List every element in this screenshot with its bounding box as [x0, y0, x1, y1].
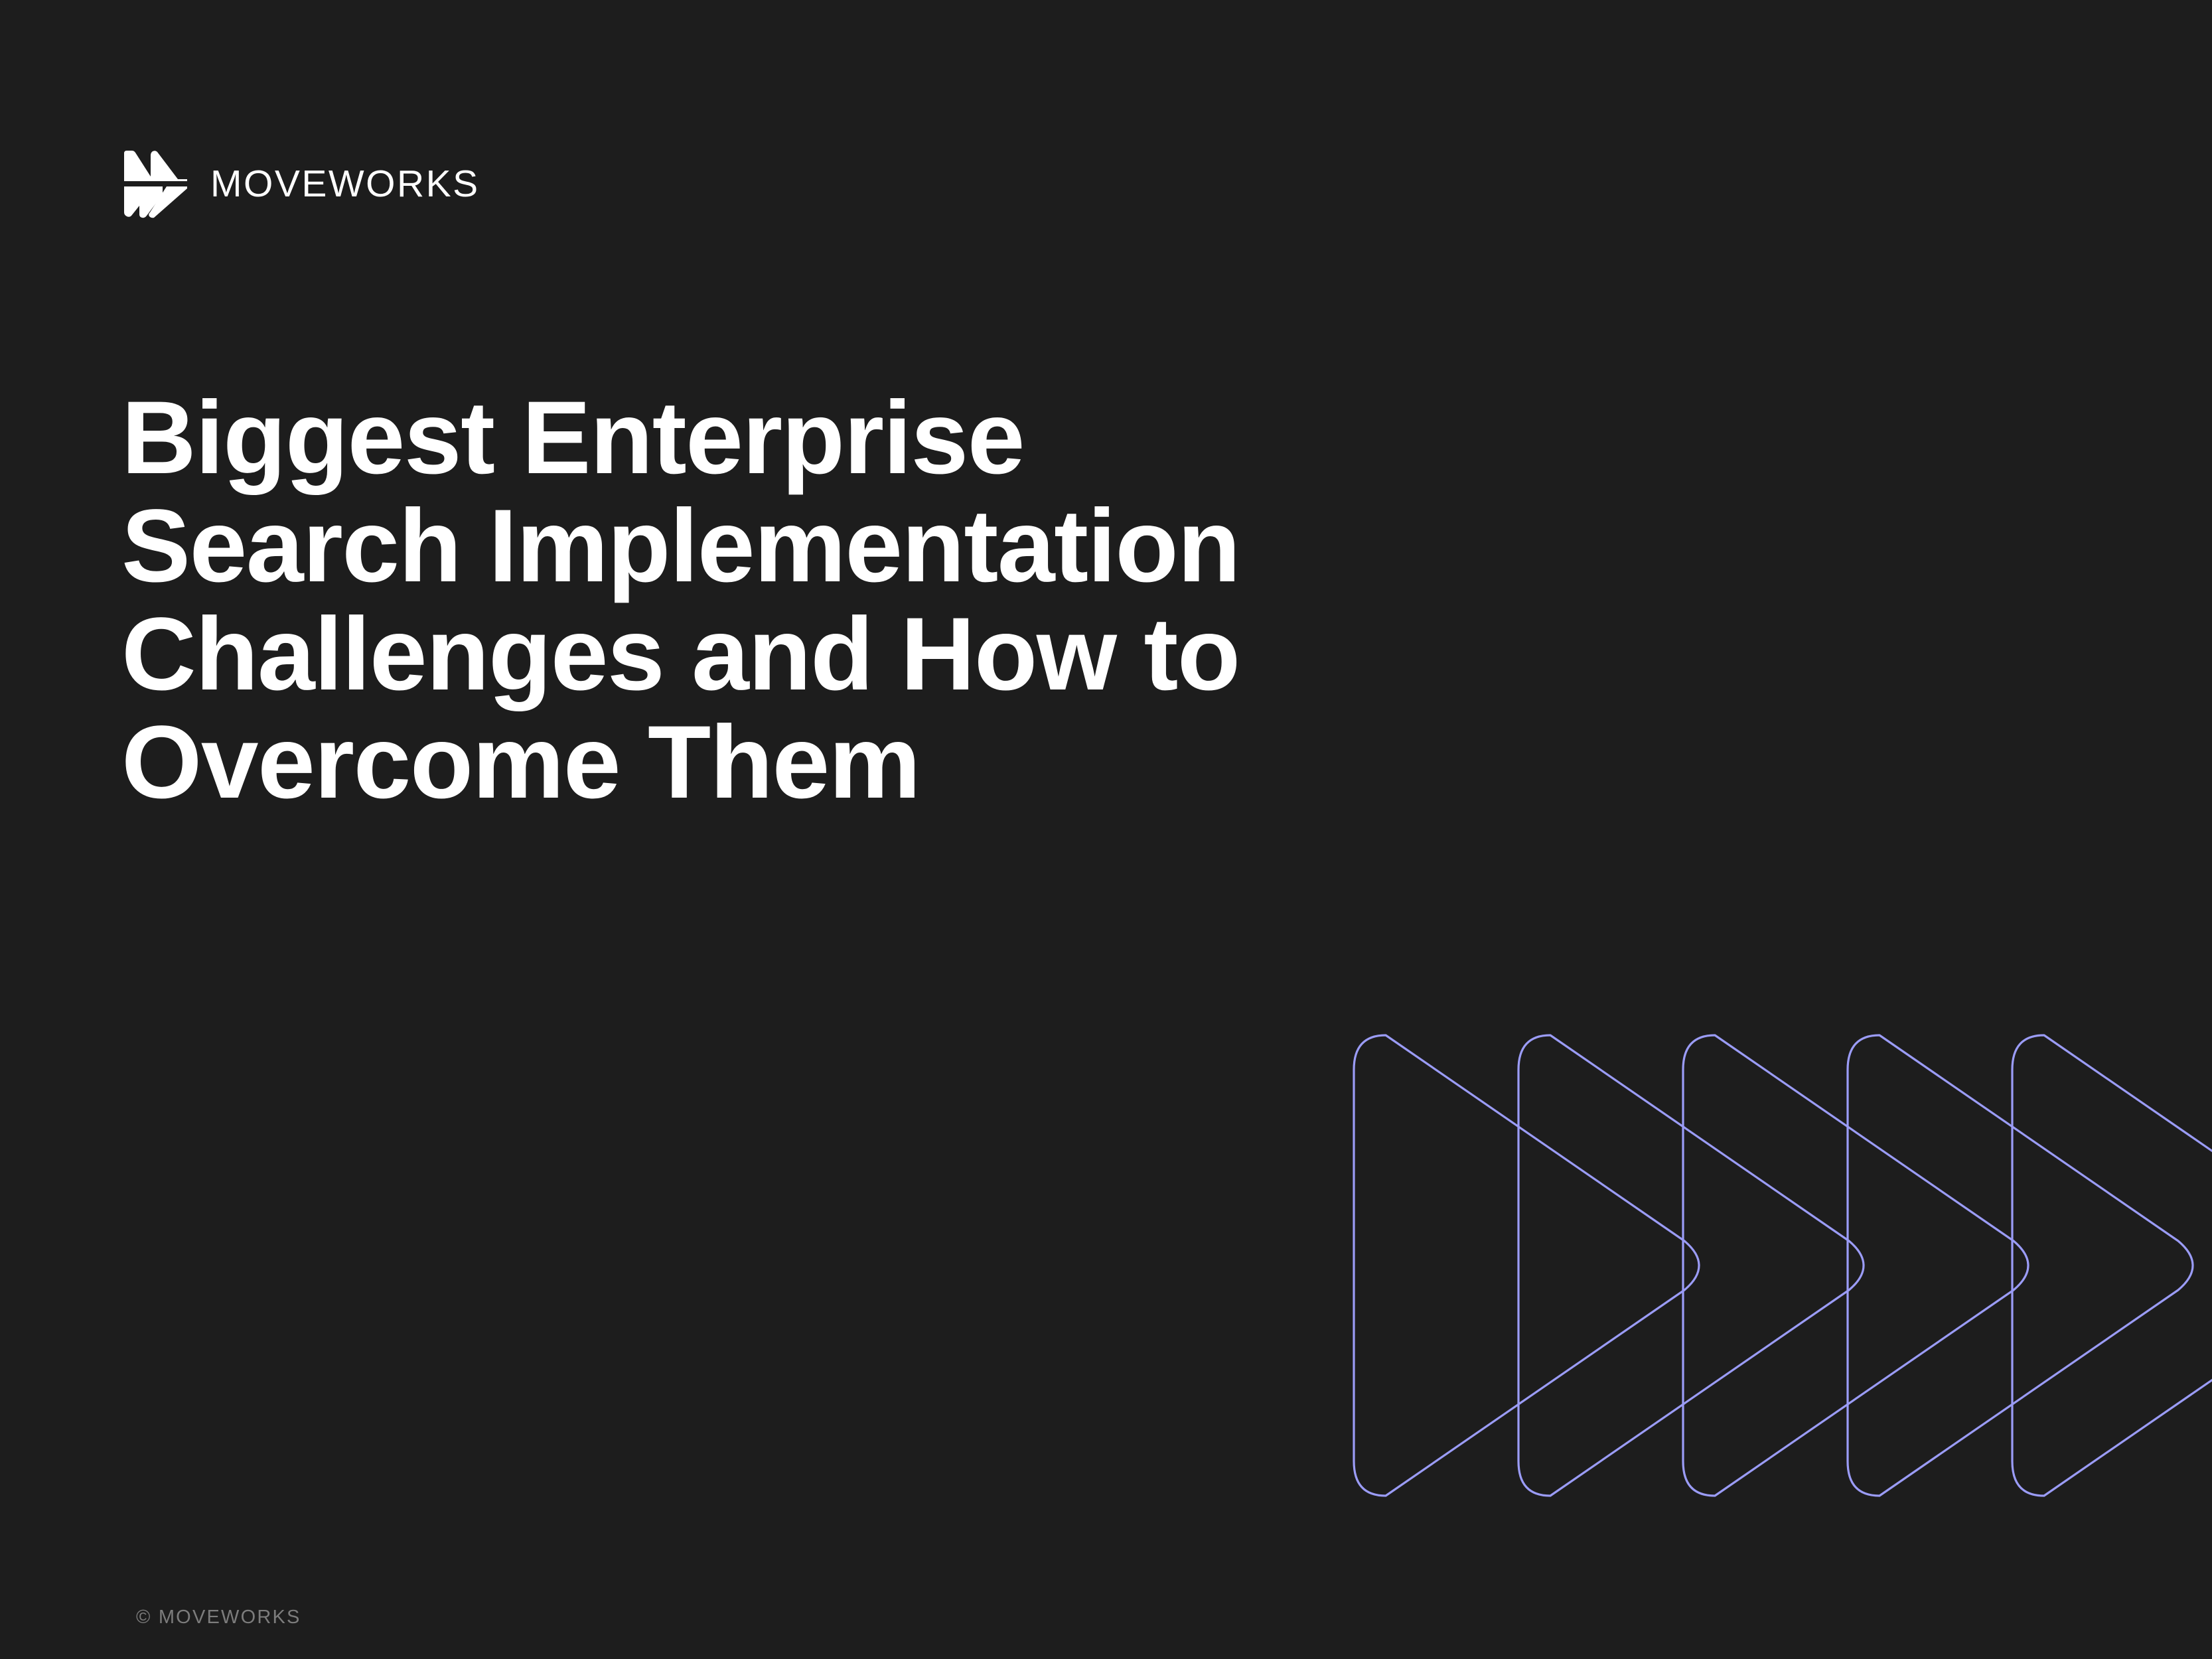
play-triangle-3 [1683, 1035, 2028, 1496]
headline-line-1: Biggest Enterprise [121, 384, 1635, 492]
play-triangle-4 [1848, 1035, 2193, 1496]
title-slide: MOVEWORKS Biggest Enterprise Search Impl… [0, 0, 2212, 1659]
brand-wordmark: MOVEWORKS [210, 165, 480, 203]
brand-lockup: MOVEWORKS [121, 147, 480, 220]
moveworks-logo-icon [121, 149, 188, 218]
headline-line-2: Search Implementation [121, 492, 1635, 601]
page-title: Biggest Enterprise Search Implementation… [121, 384, 1635, 817]
headline-line-4: Overcome Them [121, 709, 1635, 817]
play-triangle-5 [2012, 1035, 2212, 1496]
play-triangle-stack-icon [1321, 1022, 2212, 1513]
play-triangle-2 [1518, 1035, 1864, 1496]
play-triangle-1 [1354, 1035, 1699, 1496]
headline-line-3: Challenges and How to [121, 601, 1635, 709]
footer-copyright: © MOVEWORKS [136, 1608, 301, 1627]
